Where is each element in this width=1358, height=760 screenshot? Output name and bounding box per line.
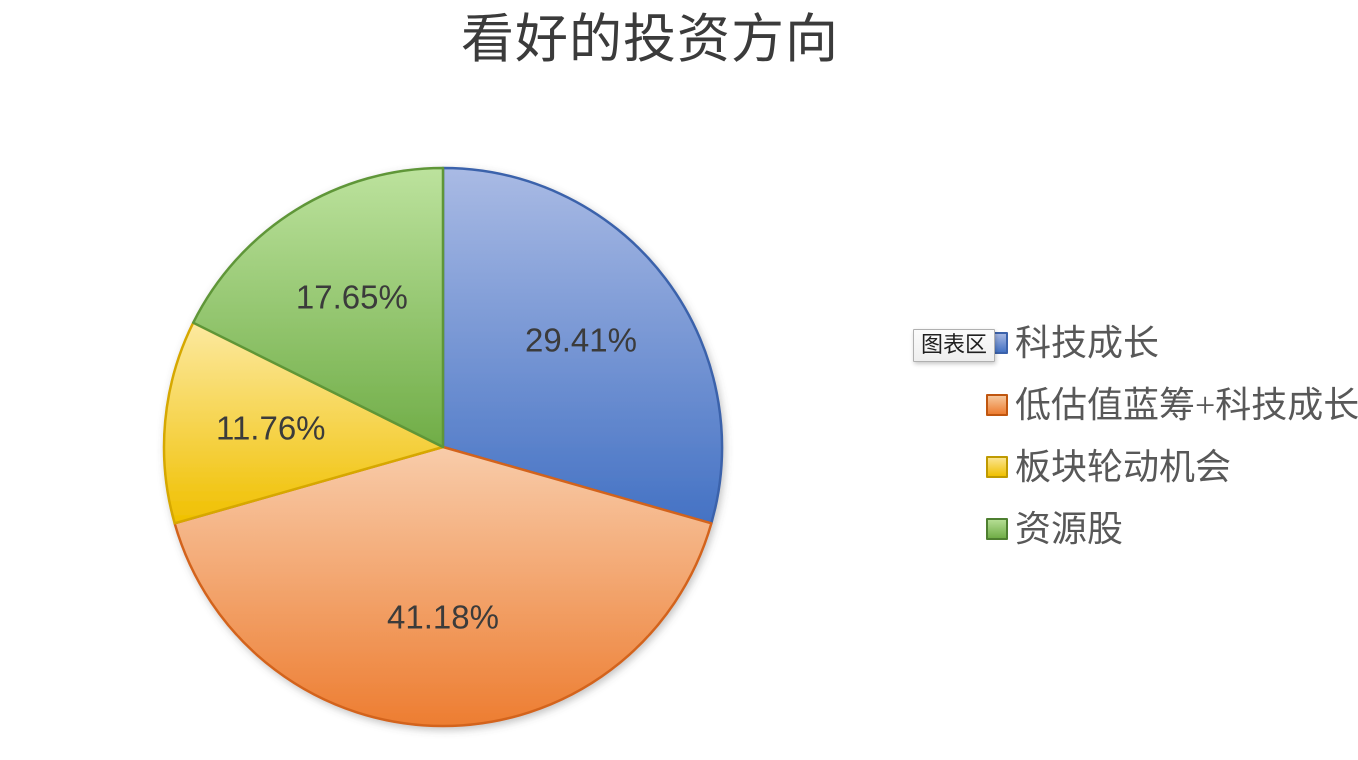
legend-color-swatch (986, 518, 1008, 540)
legend-item-label: 板块轮动机会 (1015, 447, 1231, 487)
chart-canvas: 看好的投资方向 (0, 0, 1358, 760)
legend-item-label: 低估值蓝筹+科技成长 (1015, 385, 1358, 425)
chart-title: 看好的投资方向 (0, 6, 1300, 74)
legend-item-label: 资源股 (1015, 509, 1123, 549)
legend-item[interactable]: 板块轮动机会 (912, 436, 1342, 498)
legend-item[interactable]: 资源股 (912, 498, 1342, 560)
legend-item-label: 科技成长 (1015, 323, 1159, 363)
legend-color-swatch (986, 456, 1008, 478)
plot-area[interactable]: 29.41%41.18%11.76%17.65% (150, 150, 750, 750)
pie-chart[interactable]: 29.41%41.18%11.76%17.65% (150, 150, 750, 750)
pie-slice-label: 17.65% (296, 279, 408, 316)
chart-area-tooltip: 图表区 (913, 329, 995, 362)
legend-item[interactable]: 低估值蓝筹+科技成长 (912, 374, 1342, 436)
pie-slice-label: 41.18% (387, 599, 499, 636)
legend-color-swatch (986, 394, 1008, 416)
pie-slice-group[interactable] (164, 168, 722, 726)
pie-slice-label: 11.76% (216, 410, 325, 447)
pie-slice-label: 29.41% (525, 321, 637, 358)
